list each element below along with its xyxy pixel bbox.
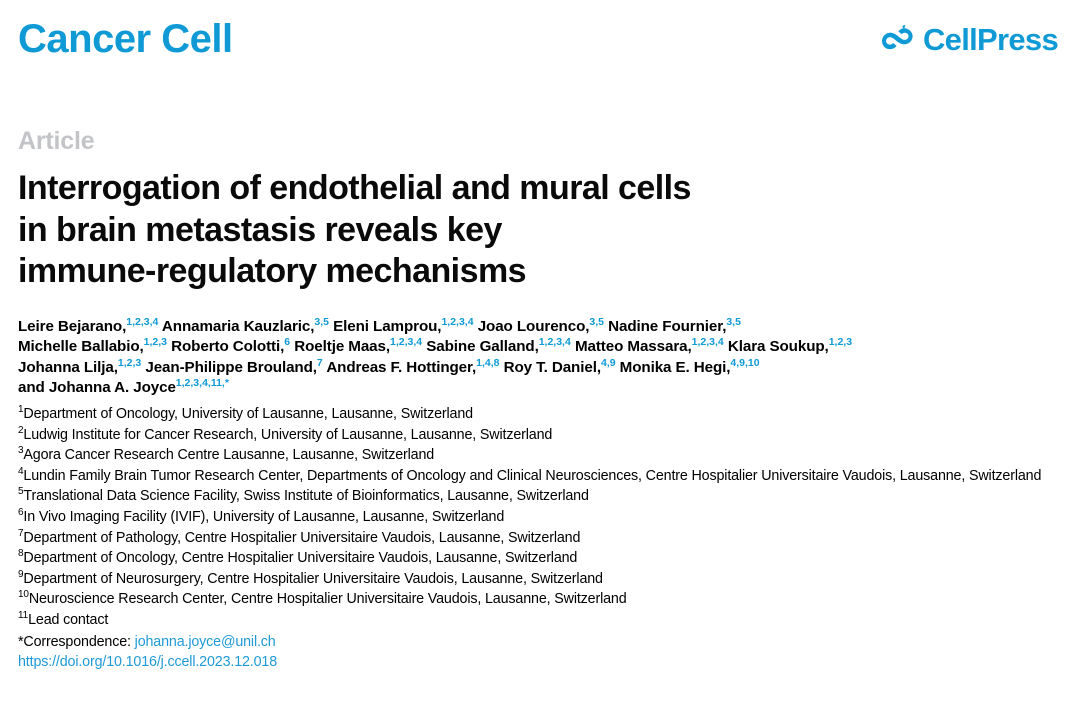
author-name: Andreas F. Hottinger,	[326, 359, 476, 376]
author-affil-marker: 6	[284, 336, 290, 348]
affiliation-text: Translational Data Science Facility, Swi…	[23, 488, 588, 504]
author-name: Nadine Fournier,	[608, 318, 726, 335]
author-name: Johanna Lilja,	[18, 359, 118, 376]
author-name: Klara Soukup,	[728, 338, 829, 355]
author-affil-marker: 3,5	[726, 316, 741, 328]
author-name: Michelle Ballabio,	[18, 338, 144, 355]
author-list: Leire Bejarano,1,2,3,4 Annamaria Kauzlar…	[18, 317, 1062, 398]
affiliation-marker: 10	[18, 590, 29, 601]
author-name: Matteo Massara,	[575, 338, 692, 355]
author-name: Jean-Philippe Brouland,	[145, 359, 317, 376]
author-name: Leire Bejarano,	[18, 318, 126, 335]
title-line: Interrogation of endothelial and mural c…	[18, 168, 918, 210]
correspondence-label: *Correspondence:	[18, 634, 131, 650]
affiliation-text: In Vivo Imaging Facility (IVIF), Univers…	[23, 509, 504, 525]
affiliation-text: Ludwig Institute for Cancer Research, Un…	[23, 427, 552, 443]
affiliation-item: 7Department of Pathology, Centre Hospita…	[18, 528, 1058, 549]
author-affil-marker: 1,2,3	[829, 336, 852, 348]
author-name: and Johanna A. Joyce	[18, 379, 176, 396]
affiliation-item: 8Department of Oncology, Centre Hospital…	[18, 548, 1058, 569]
cellpress-loop-icon	[882, 25, 916, 55]
author-name: Roberto Colotti,	[171, 338, 284, 355]
affiliation-text: Neuroscience Research Center, Centre Hos…	[29, 591, 627, 607]
affiliation-item: 11Lead contact	[18, 610, 1058, 631]
author-name: Annamaria Kauzlaric,	[162, 318, 314, 335]
doi-link[interactable]: https://doi.org/10.1016/j.ccell.2023.12.…	[18, 654, 277, 670]
doi-line: https://doi.org/10.1016/j.ccell.2023.12.…	[18, 652, 1062, 673]
article-header-page: Cancer Cell CellPress Article Interrogat…	[0, 0, 1080, 721]
affiliation-text: Department of Pathology, Centre Hospital…	[23, 530, 580, 546]
author-affil-marker: 1,2,3	[118, 356, 141, 368]
correspondence-line: *Correspondence: johanna.joyce@unil.ch	[18, 632, 1062, 653]
author-line: and Johanna A. Joyce1,2,3,4,11,*	[18, 378, 1062, 398]
affiliation-item: 6In Vivo Imaging Facility (IVIF), Univer…	[18, 507, 1058, 528]
page-title: Interrogation of endothelial and mural c…	[18, 168, 918, 293]
affiliation-item: 1Department of Oncology, University of L…	[18, 404, 1058, 425]
affiliation-item: 3Agora Cancer Research Centre Lausanne, …	[18, 445, 1058, 466]
affiliation-item: 5Translational Data Science Facility, Sw…	[18, 486, 1058, 507]
masthead: Cancer Cell CellPress	[18, 0, 1062, 92]
author-name: Eleni Lamprou,	[333, 318, 441, 335]
affiliation-text: Agora Cancer Research Centre Lausanne, L…	[23, 447, 434, 463]
title-line: immune-regulatory mechanisms	[18, 251, 918, 293]
author-line: Johanna Lilja,1,2,3 Jean-Philippe Broula…	[18, 358, 1062, 378]
affiliation-item: 4Lundin Family Brain Tumor Research Cent…	[18, 466, 1058, 487]
affiliation-list: 1Department of Oncology, University of L…	[18, 404, 1058, 631]
author-affil-marker: 1,2,3,4	[390, 336, 422, 348]
affiliation-item: 10Neuroscience Research Center, Centre H…	[18, 589, 1058, 610]
author-name: Sabine Galland,	[426, 338, 538, 355]
cellpress-logo[interactable]: CellPress	[882, 18, 1062, 55]
author-affil-marker: 1,2,3	[144, 336, 167, 348]
article-type-label: Article	[18, 129, 1062, 154]
author-affil-marker: 1,2,3,4	[539, 336, 571, 348]
affiliation-text: Department of Neurosurgery, Centre Hospi…	[23, 571, 602, 587]
author-name: Roeltje Maas,	[294, 338, 390, 355]
affiliation-text: Department of Oncology, University of La…	[23, 406, 473, 422]
author-line: Michelle Ballabio,1,2,3 Roberto Colotti,…	[18, 337, 1062, 357]
title-line: in brain metastasis reveals key	[18, 210, 918, 252]
affiliation-text: Lundin Family Brain Tumor Research Cente…	[23, 468, 1041, 484]
author-affil-marker: 1,2,3,4,11,*	[176, 377, 229, 389]
author-affil-marker: 3,5	[314, 316, 329, 328]
author-name: Roy T. Daniel,	[504, 359, 601, 376]
correspondence-email-link[interactable]: johanna.joyce@unil.ch	[135, 634, 276, 650]
affiliation-text: Department of Oncology, Centre Hospitali…	[23, 550, 577, 566]
author-affil-marker: 3,5	[589, 316, 604, 328]
author-name: Monika E. Hegi,	[620, 359, 731, 376]
author-affil-marker: 1,2,3,4	[692, 336, 724, 348]
author-affil-marker: 7	[317, 356, 323, 368]
author-affil-marker: 1,2,3,4	[441, 316, 473, 328]
author-affil-marker: 1,4,8	[476, 356, 499, 368]
author-name: Joao Lourenco,	[478, 318, 590, 335]
affiliation-item: 2Ludwig Institute for Cancer Research, U…	[18, 425, 1058, 446]
author-affil-marker: 4,9	[601, 356, 616, 368]
correspondence-block: *Correspondence: johanna.joyce@unil.ch h…	[18, 632, 1062, 673]
affiliation-marker: 11	[18, 610, 28, 621]
affiliation-item: 9Department of Neurosurgery, Centre Hosp…	[18, 569, 1058, 590]
affiliation-text: Lead contact	[28, 612, 108, 628]
journal-title: Cancer Cell	[18, 18, 233, 60]
author-line: Leire Bejarano,1,2,3,4 Annamaria Kauzlar…	[18, 317, 1062, 337]
cellpress-wordmark: CellPress	[923, 24, 1058, 55]
author-affil-marker: 1,2,3,4	[126, 316, 158, 328]
author-affil-marker: 4,9,10	[730, 356, 759, 368]
